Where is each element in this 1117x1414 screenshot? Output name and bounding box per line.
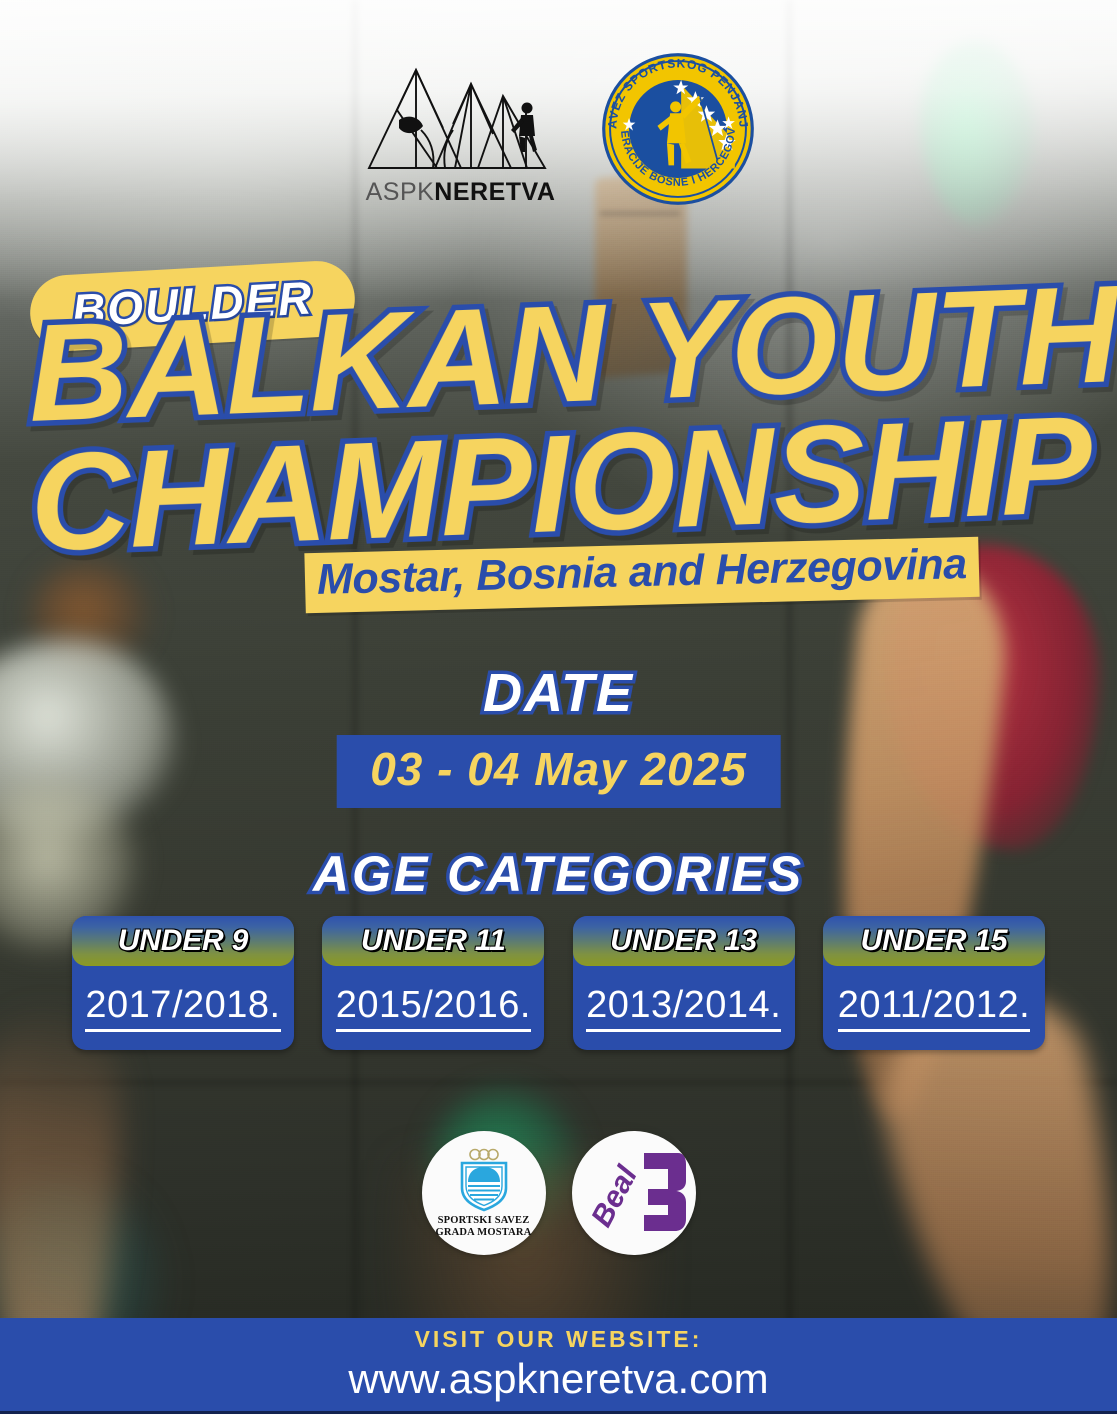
age-category-header: UNDER 13 [573, 916, 795, 966]
age-category-name: UNDER 11 [361, 924, 506, 958]
age-category-header: UNDER 11 [322, 916, 544, 966]
footer-bar: VISIT OUR WEBSITE: www.aspkneretva.com [0, 1318, 1117, 1414]
age-category-years: 2013/2014. [586, 984, 781, 1032]
logo-row: ASPKNERETVA [0, 50, 1117, 208]
age-category-years: 2015/2016. [336, 984, 531, 1032]
neretva-wordmark: ASPKNERETVA [366, 178, 556, 207]
beal-logo-icon: Beal [582, 1145, 686, 1241]
sponsor-sportski-savez-grada-mostara: SPORTSKI SAVEZ GRADA MOSTARA [422, 1131, 546, 1255]
age-category-body: 2011/2012. [823, 966, 1045, 1050]
age-categories-list: UNDER 9 2017/2018. UNDER 11 2015/2016. U… [72, 916, 1045, 1050]
age-category-years: 2017/2018. [85, 984, 280, 1032]
footer-kicker: VISIT OUR WEBSITE: [415, 1326, 703, 1353]
age-category-card: UNDER 9 2017/2018. [72, 916, 294, 1050]
age-category-body: 2017/2018. [72, 966, 294, 1050]
age-category-body: 2015/2016. [322, 966, 544, 1050]
date-band: 03 - 04 May 2025 [336, 735, 781, 808]
neretva-wordmark-thin: ASPK [366, 178, 435, 206]
age-category-header: UNDER 15 [823, 916, 1045, 966]
date-value: 03 - 04 May 2025 [370, 742, 747, 796]
beal-wordmark: Beal [585, 1160, 644, 1232]
sponsor-name-line-2: GRADA MOSTARA [435, 1227, 531, 1238]
date-heading: DATE [0, 662, 1117, 724]
sponsor-name-line-1: SPORTSKI SAVEZ [435, 1215, 531, 1226]
mostar-shield-icon [453, 1148, 515, 1212]
footer-website-url[interactable]: www.aspkneretva.com [348, 1355, 768, 1403]
age-category-card: UNDER 13 2013/2014. [573, 916, 795, 1050]
bih-climbing-federation-logo: SAVEZ SPORTSKOG PENJANJA FEDERACIJE BOSN… [599, 50, 757, 208]
subtitle-text: Mostar, Bosnia and Herzegovina [316, 540, 967, 605]
aspk-neretva-logo: ASPKNERETVA [361, 52, 561, 207]
age-category-card: UNDER 11 2015/2016. [322, 916, 544, 1050]
age-category-name: UNDER 13 [610, 924, 757, 958]
sponsor-row: SPORTSKI SAVEZ GRADA MOSTARA Beal [0, 1131, 1117, 1255]
age-category-name: UNDER 15 [861, 924, 1008, 958]
age-category-name: UNDER 9 [118, 924, 248, 958]
age-category-header: UNDER 9 [72, 916, 294, 966]
neretva-wordmark-bold: NERETVA [434, 178, 555, 206]
poster-root: ASPKNERETVA [0, 0, 1117, 1414]
age-category-card: UNDER 15 2011/2012. [823, 916, 1045, 1050]
age-category-years: 2011/2012. [838, 984, 1030, 1032]
age-categories-heading: AGE CATEGORIES [0, 845, 1117, 903]
age-category-body: 2013/2014. [573, 966, 795, 1050]
mountain-climber-icon [361, 52, 561, 174]
sponsor-name: SPORTSKI SAVEZ GRADA MOSTARA [435, 1215, 531, 1237]
sponsor-beal: Beal [572, 1131, 696, 1255]
